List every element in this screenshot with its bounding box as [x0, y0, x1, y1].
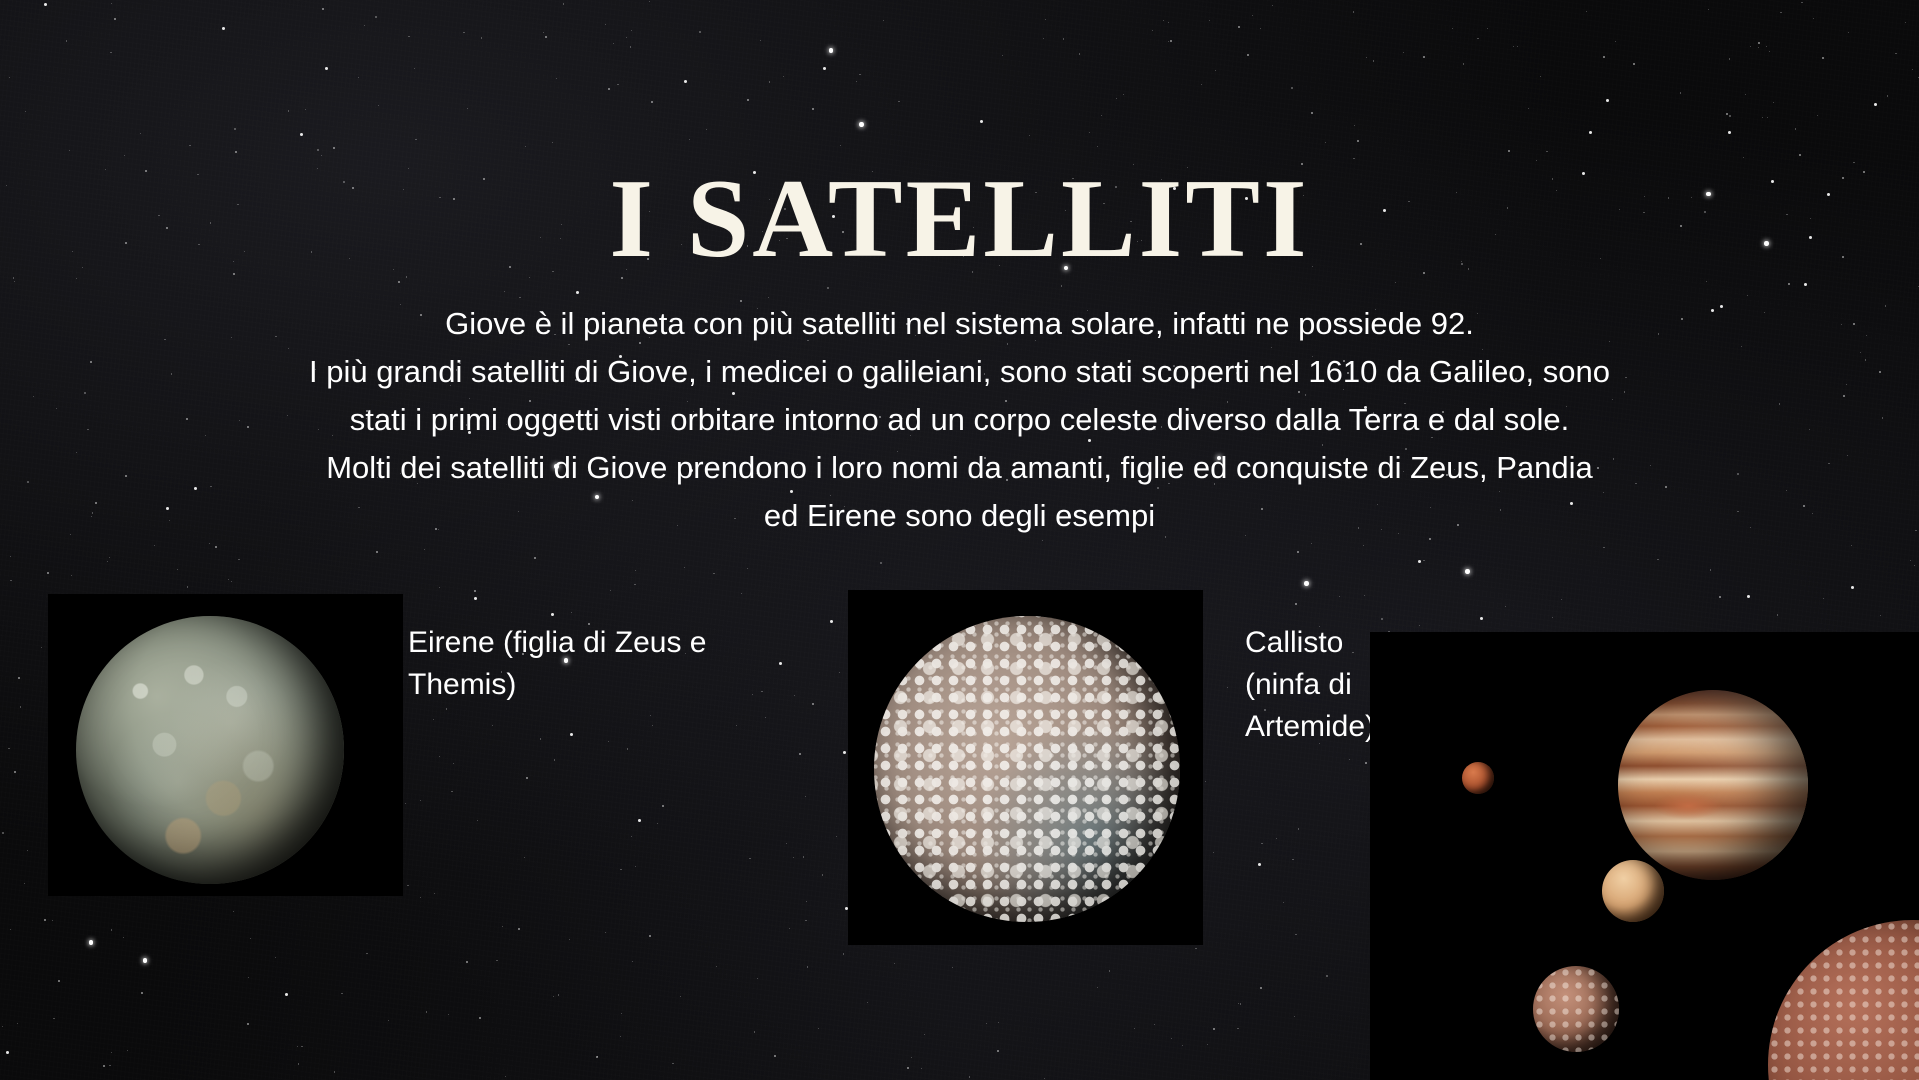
jupiter-system-image-panel	[1370, 632, 1919, 1080]
eirene-image-panel	[48, 594, 403, 896]
caption-line: Eirene (figlia di Zeus e	[408, 622, 808, 664]
jupiter-planet-icon	[1618, 690, 1808, 880]
io-moon-icon	[1462, 762, 1494, 794]
page-title: I SATELLITI	[0, 163, 1919, 275]
body-line: Giove è il pianeta con più satelliti nel…	[100, 300, 1820, 348]
eirene-caption: Eirene (figlia di Zeus e Themis)	[408, 622, 808, 706]
europa-moon-icon	[1602, 860, 1664, 922]
callisto-image-panel	[848, 590, 1203, 945]
callisto-large-moon-icon	[1768, 920, 1919, 1080]
presentation-slide: I SATELLITI Giove è il pianeta con più s…	[0, 0, 1919, 1080]
body-line: I più grandi satelliti di Giove, i medic…	[100, 348, 1820, 396]
body-line: Molti dei satelliti di Giove prendono i …	[100, 444, 1820, 492]
ganymede-moon-icon	[1533, 966, 1619, 1052]
body-line: stati i primi oggetti visti orbitare int…	[100, 396, 1820, 444]
callisto-moon-icon	[874, 616, 1180, 922]
body-line: ed Eirene sono degli esempi	[100, 492, 1820, 540]
eirene-moon-icon	[76, 616, 344, 884]
caption-line: Themis)	[408, 664, 808, 706]
body-paragraph: Giove è il pianeta con più satelliti nel…	[100, 300, 1820, 540]
